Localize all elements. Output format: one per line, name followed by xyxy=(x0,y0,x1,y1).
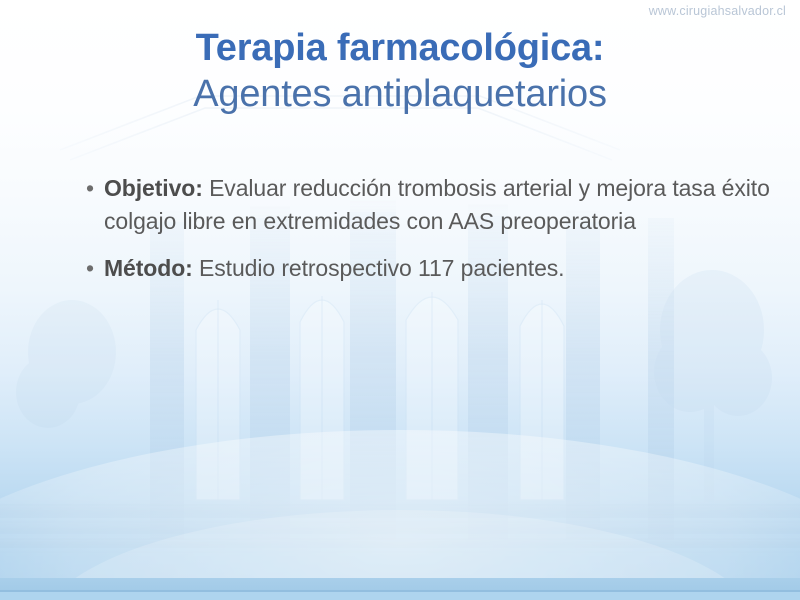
title-line-primary: Terapia farmacológica: xyxy=(0,28,800,68)
bullet-list: • Objetivo: Evaluar reducción trombosis … xyxy=(86,172,776,299)
site-url-watermark: www.cirugiahsalvador.cl xyxy=(649,4,786,18)
list-item: • Método: Estudio retrospectivo 117 paci… xyxy=(86,252,776,285)
bullet-label: Objetivo: xyxy=(104,175,203,201)
bullet-dot-icon: • xyxy=(86,172,104,205)
bullet-text: Objetivo: Evaluar reducción trombosis ar… xyxy=(104,172,776,238)
slide-title: Terapia farmacológica: Agentes antiplaqu… xyxy=(0,28,800,115)
bottom-footer-strip xyxy=(0,592,800,600)
bullet-label: Método: xyxy=(104,255,193,281)
list-item: • Objetivo: Evaluar reducción trombosis … xyxy=(86,172,776,238)
bullet-dot-icon: • xyxy=(86,252,104,285)
bullet-body: Estudio retrospectivo 117 pacientes. xyxy=(193,255,565,281)
slide-canvas: www.cirugiahsalvador.cl Terapia farmacol… xyxy=(0,0,800,600)
bullet-text: Método: Estudio retrospectivo 117 pacien… xyxy=(104,252,776,285)
title-line-secondary: Agentes antiplaquetarios xyxy=(0,74,800,114)
bullet-body: Evaluar reducción trombosis arterial y m… xyxy=(104,175,770,234)
